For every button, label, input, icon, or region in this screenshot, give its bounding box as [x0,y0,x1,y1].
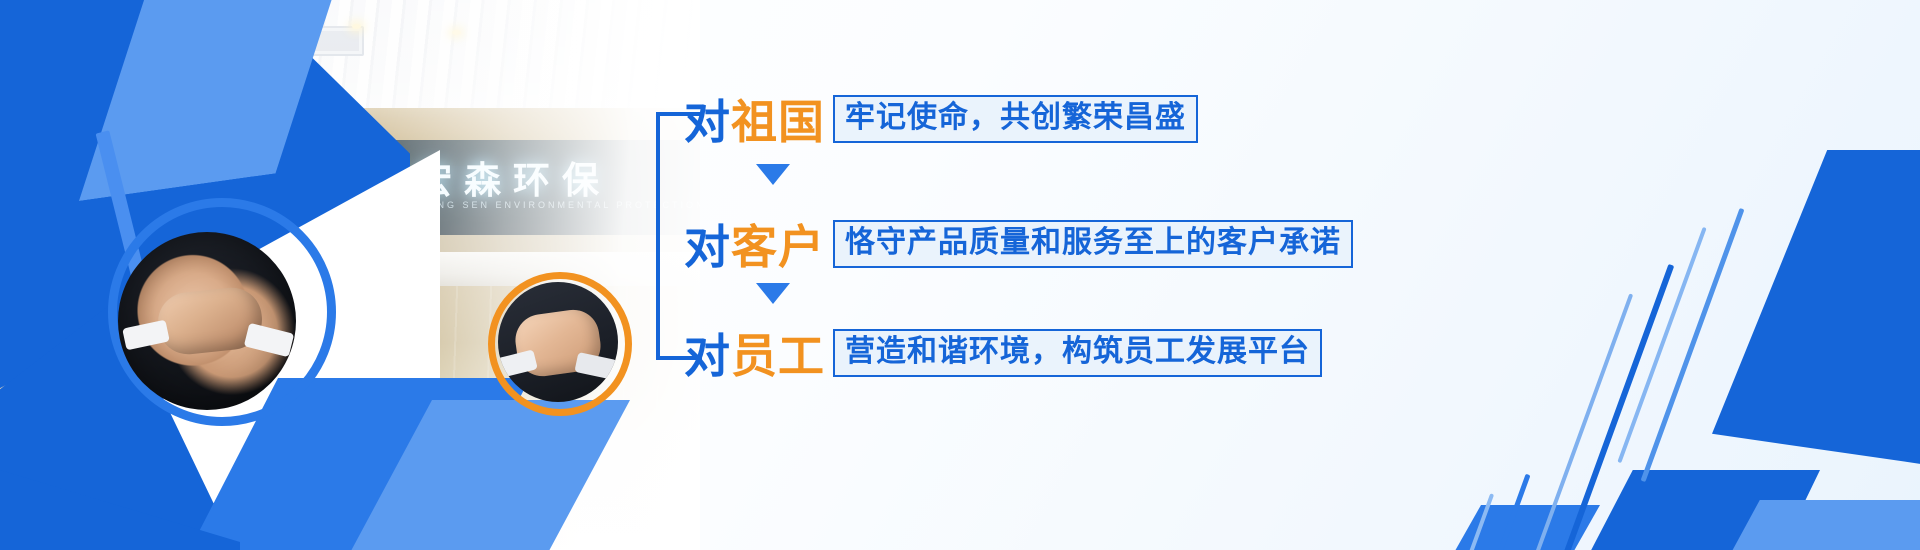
applause-cuff-right [574,352,617,380]
shirt-cuff-right [244,323,294,357]
value-statement-customer: 恪守产品质量和服务至上的客户承诺 [833,220,1353,269]
value-row-country: 对祖国 牢记使命，共创繁荣昌盛 [684,86,1198,152]
value-subject: 员工 [731,330,825,382]
handshake-bubble [118,232,296,410]
decor-wedge-right-1 [1712,150,1920,480]
value-statement-country: 牢记使命，共创繁荣昌盛 [833,95,1198,144]
value-lead-employee: 对员工 [684,320,825,386]
value-row-employee: 对员工 营造和谐环境，构筑员工发展平台 [684,320,1322,386]
shirt-cuff-left [122,320,170,351]
chevron-down-icon [756,164,790,185]
decor-diagonal-line [1641,208,1745,482]
value-lead-country: 对祖国 [684,86,825,152]
values-banner: 宏森环保 HONG SEN ENVIRONMENTAL PROTECTION [0,0,1920,550]
chevron-down-icon [756,283,790,304]
applause-bubble [498,282,618,402]
value-row-customer: 对客户 恪守产品质量和服务至上的客户承诺 [684,211,1353,277]
value-subject: 客户 [731,221,825,273]
values-content: 对祖国 牢记使命，共创繁荣昌盛 对客户 恪守产品质量和服务至上的客户承诺 对员工… [650,0,1450,550]
value-prefix: 对 [684,96,731,148]
value-prefix: 对 [684,330,731,382]
value-prefix: 对 [684,221,731,273]
value-statement-employee: 营造和谐环境，构筑员工发展平台 [833,329,1322,378]
value-subject: 祖国 [731,96,825,148]
value-lead-customer: 对客户 [684,211,825,277]
